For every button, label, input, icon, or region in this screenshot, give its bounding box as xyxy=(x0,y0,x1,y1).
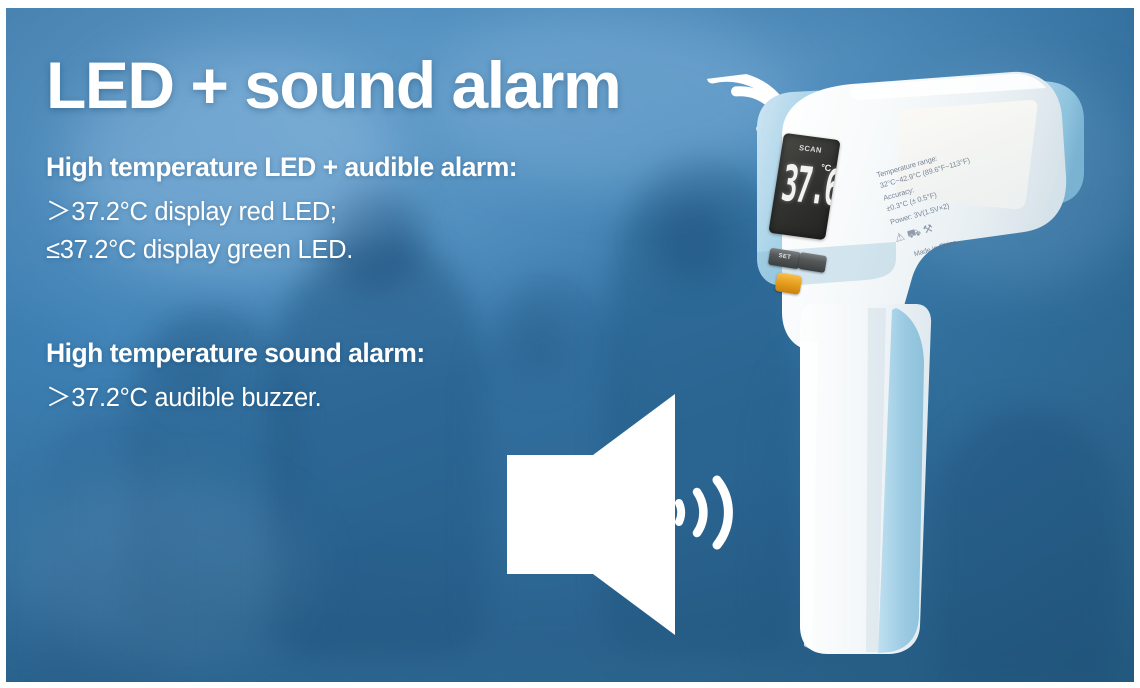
led-sound-alarm-poster: LED + sound alarm High temperature LED +… xyxy=(0,0,1140,688)
text-column: LED + sound alarm High temperature LED +… xyxy=(46,52,706,422)
frame-left-edge xyxy=(0,0,6,688)
thermometer-body xyxy=(700,52,1130,677)
frame-bottom-edge xyxy=(0,682,1140,688)
trigger-button[interactable] xyxy=(775,272,803,295)
block-title-sound: High temperature sound alarm: xyxy=(46,338,706,369)
speaker-icon xyxy=(505,392,680,637)
block-line-led-red: ＞37.2°C display red LED; xyxy=(46,191,706,228)
block-title-led: High temperature LED + audible alarm: xyxy=(46,152,706,183)
frame-top-edge xyxy=(0,0,1140,8)
alarm-block-led: High temperature LED + audible alarm: ＞3… xyxy=(46,152,706,265)
page-title: LED + sound alarm xyxy=(46,52,706,118)
set-button-label: SET xyxy=(769,252,801,263)
block-line-led-green: ≤37.2°C display green LED. xyxy=(46,236,706,265)
thermometer-device: SCAN °C 37.6 Temperature range: 32°C~42.… xyxy=(700,52,1130,677)
lcd-temperature-value: 37.6 xyxy=(778,154,833,217)
frame-right-edge xyxy=(1134,0,1140,688)
